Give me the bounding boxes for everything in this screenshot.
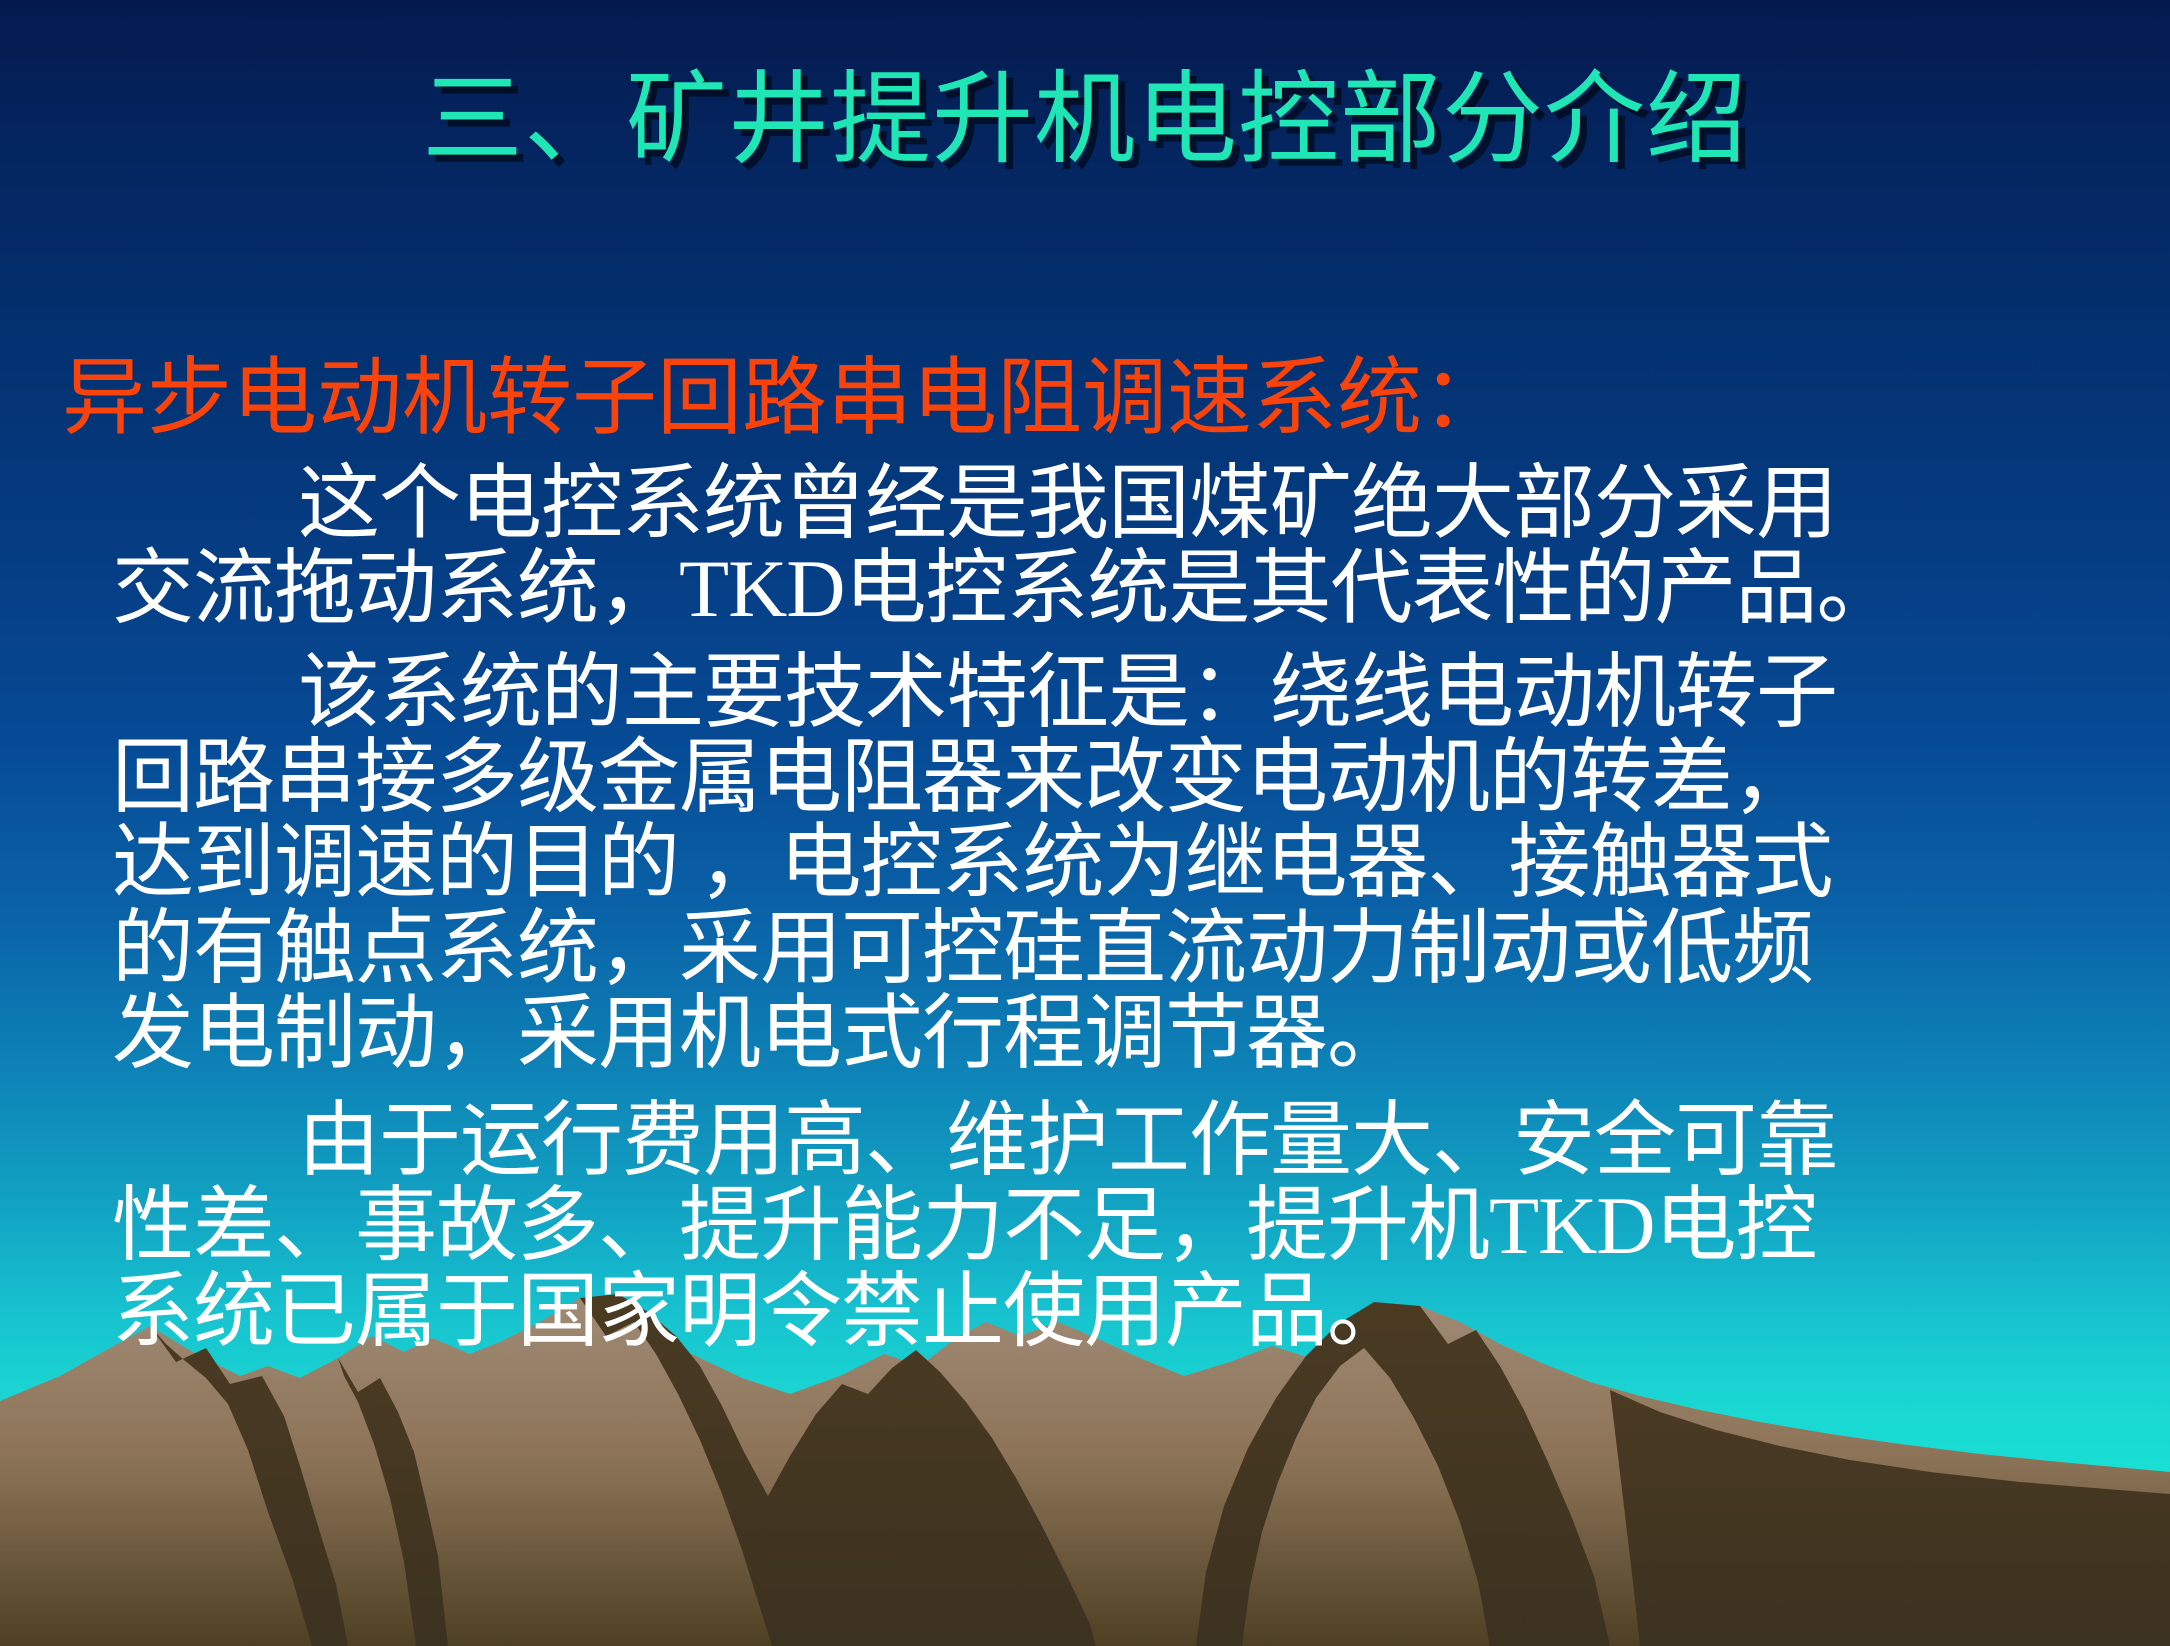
paragraph-2: 该系统的主要技术特征是：绕线电动机转子 回路串接多级金属电阻器来改变电动机的转差… <box>0 650 2170 1076</box>
paragraph-2-line-2: 回路串接多级金属电阻器来改变电动机的转差， <box>112 735 2140 820</box>
paragraph-2-line-1: 该系统的主要技术特征是：绕线电动机转子 <box>140 650 2140 735</box>
paragraph-3-line-1: 由于运行费用高、维护工作量大、安全可靠 <box>140 1098 2140 1183</box>
mountain-shadow-left <box>150 1326 348 1646</box>
mountain-shadow-far-right <box>1610 1390 2170 1646</box>
paragraph-3-line-2: 性差、事故多、提升能力不足，提升机TKD电控 <box>112 1183 2140 1268</box>
paragraph-1-line-1: 这个电控系统曾经是我国煤矿绝大部分采用 <box>140 461 2140 546</box>
paragraph-1-line-2: 交流拖动系统，TKD电控系统是其代表性的产品。 <box>112 546 2140 631</box>
slide-title: 三、矿井提升机电控部分介绍 <box>422 66 1748 175</box>
slide-body: 异步电动机转子回路串电阻调速系统： 这个电控系统曾经是我国煤矿绝大部分采用 交流… <box>0 352 2170 1354</box>
title-area: 三、矿井提升机电控部分介绍 <box>0 66 2170 175</box>
paragraph-2-line-5: 发电制动，采用机电式行程调节器。 <box>112 991 2140 1076</box>
paragraph-2-line-3: 达到调速的目的 ，电控系统为继电器、接触器式 <box>112 820 2140 905</box>
section-subtitle: 异步电动机转子回路串电阻调速系统： <box>0 352 2170 447</box>
mountain-shadow-mid-a <box>338 1358 448 1646</box>
paragraph-3: 由于运行费用高、维护工作量大、安全可靠 性差、事故多、提升能力不足，提升机TKD… <box>0 1098 2170 1354</box>
paragraph-2-line-4: 的有触点系统，采用可控硅直流动力制动或低频 <box>112 906 2140 991</box>
paragraph-3-line-3: 系统已属于国家明令禁止使用产品。 <box>112 1269 2140 1354</box>
slide-canvas: 三、矿井提升机电控部分介绍 异步电动机转子回路串电阻调速系统： 这个电控系统曾经… <box>0 0 2170 1646</box>
paragraph-1: 这个电控系统曾经是我国煤矿绝大部分采用 交流拖动系统，TKD电控系统是其代表性的… <box>0 461 2170 632</box>
